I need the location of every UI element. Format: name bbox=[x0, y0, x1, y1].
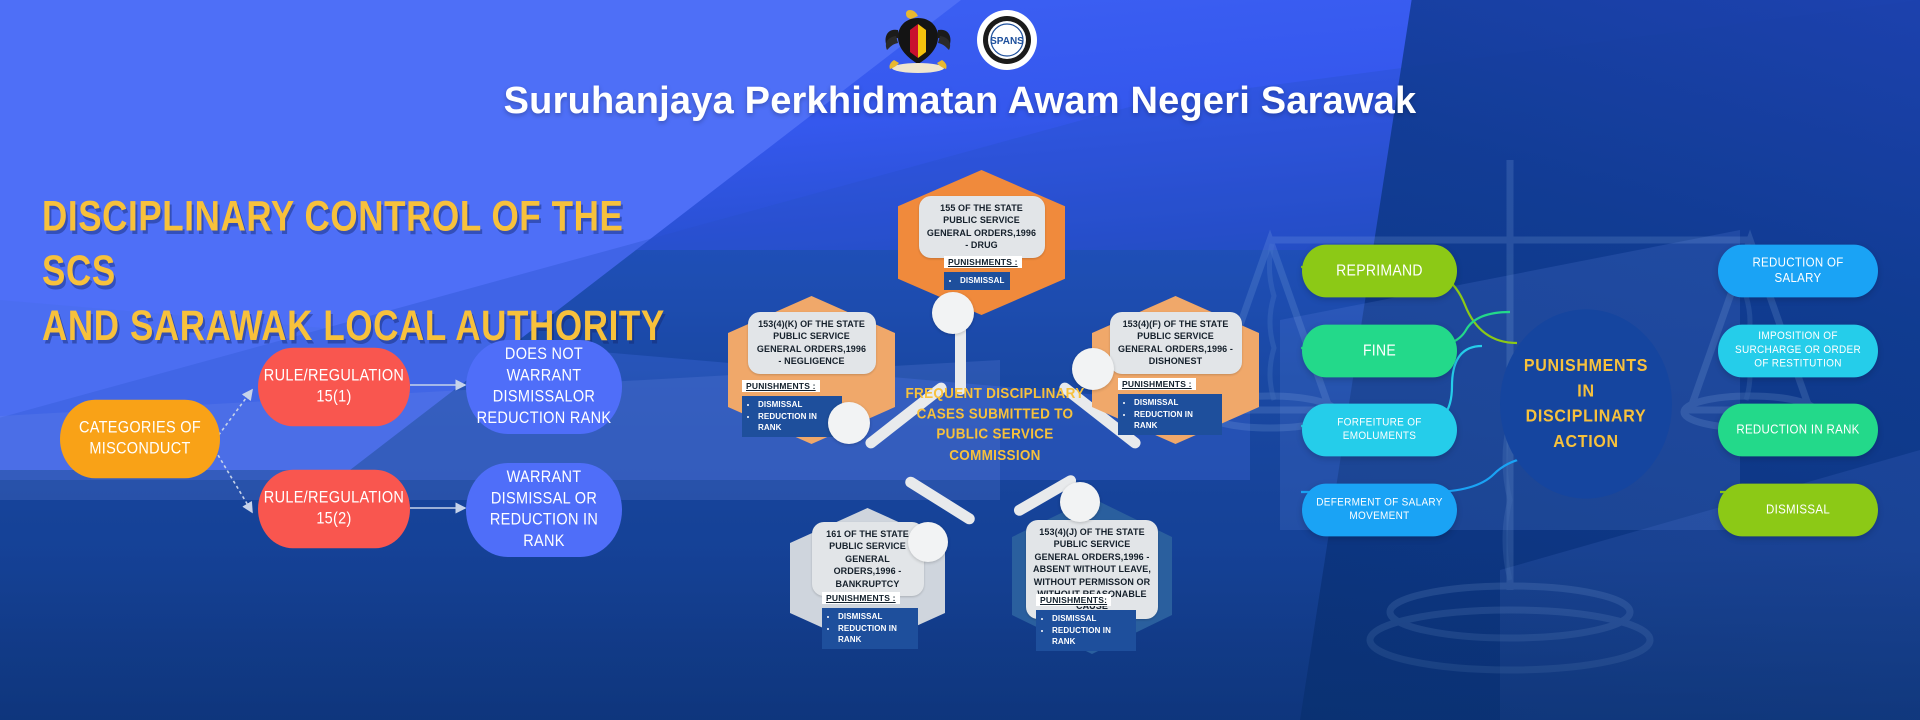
pill-label: REPRIMAND bbox=[1336, 261, 1423, 280]
hex-title: 153(4)(K) OF THE STATE PUBLIC SERVICE GE… bbox=[748, 312, 876, 374]
punishments-heading: PUNISHMENTS : bbox=[742, 380, 820, 392]
punishments-list: DISMISSAL REDUCTION IN RANK bbox=[1118, 394, 1222, 435]
hub-line-4: ACTION bbox=[1524, 430, 1648, 456]
header-logos: SPANS bbox=[0, 6, 1920, 74]
node-outcome-15-1[interactable]: DOES NOT WARRANT DISMISSALOR REDUCTION R… bbox=[466, 340, 622, 434]
headline-line-1: DISCIPLINARY CONTROL OF THE SCS bbox=[42, 190, 702, 299]
punishments-list: DISMISSAL bbox=[944, 272, 1010, 290]
pill-reprimand[interactable]: REPRIMAND bbox=[1302, 245, 1457, 298]
pill-label: FORFEITURE OF EMOLUMENTS bbox=[1312, 416, 1447, 444]
hex-title: 161 OF THE STATE PUBLIC SERVICE GENERAL … bbox=[812, 522, 924, 596]
punishment-item: DISMISSAL bbox=[1052, 613, 1129, 625]
pill-label: DEFERMENT OF SALARY MOVEMENT bbox=[1312, 496, 1447, 524]
node-label: CATEGORIES OF MISCONDUCT bbox=[70, 418, 210, 461]
hex-node-drug[interactable]: 155 OF THE STATE PUBLIC SERVICE GENERAL … bbox=[898, 170, 1065, 315]
node-label: RULE/REGULATION 15(2) bbox=[264, 488, 404, 531]
punishment-item: REDUCTION IN RANK bbox=[838, 623, 911, 646]
hex-bubble-negligence bbox=[828, 402, 870, 444]
hex-bubble-drug bbox=[932, 292, 974, 334]
node-categories-of-misconduct[interactable]: CATEGORIES OF MISCONDUCT bbox=[60, 400, 220, 478]
hex-node-absent[interactable]: 153(4)(J) OF THE STATE PUBLIC SERVICE GE… bbox=[1012, 498, 1172, 654]
punishments-list: DISMISSAL REDUCTION IN RANK bbox=[822, 608, 918, 649]
punishment-item: DISMISSAL bbox=[838, 611, 911, 623]
spans-logo-text: SPANS bbox=[990, 36, 1024, 47]
punishments-hub[interactable]: PUNISHMENTS IN DISCIPLINARY ACTION bbox=[1500, 309, 1672, 498]
punishment-item: DISMISSAL bbox=[1134, 397, 1215, 409]
pill-imposition-of-surcharge[interactable]: IMPOSITION OF SURCHARGE OR ORDER OF REST… bbox=[1718, 325, 1878, 378]
punishment-item: REDUCTION IN RANK bbox=[1134, 409, 1215, 432]
punishments-heading: PUNISHMENTS : bbox=[944, 256, 1022, 268]
hex-bubble-absent bbox=[1060, 482, 1100, 522]
punishments-heading: PUNISHMENTS : bbox=[1118, 378, 1196, 390]
node-rule-15-2[interactable]: RULE/REGULATION 15(2) bbox=[258, 470, 410, 548]
headline: DISCIPLINARY CONTROL OF THE SCS AND SARA… bbox=[42, 190, 702, 354]
pill-dismissal[interactable]: DISMISSAL bbox=[1718, 484, 1878, 537]
pill-deferment-of-salary-movement[interactable]: DEFERMENT OF SALARY MOVEMENT bbox=[1302, 484, 1457, 537]
hex-title: 153(4)(F) OF THE STATE PUBLIC SERVICE GE… bbox=[1110, 312, 1242, 374]
pill-label: REDUCTION IN RANK bbox=[1736, 422, 1859, 438]
punishments-list: DISMISSAL REDUCTION IN RANK bbox=[742, 396, 842, 437]
hub-line-3: DISCIPLINARY bbox=[1524, 404, 1648, 430]
pill-label: IMPOSITION OF SURCHARGE OR ORDER OF REST… bbox=[1728, 330, 1868, 371]
background-bottom-haze bbox=[0, 550, 1920, 720]
hex-bubble-bankruptcy bbox=[908, 522, 948, 562]
hub-line-2: IN bbox=[1524, 378, 1648, 404]
hex-cluster-center-label: FREQUENT DISCIPLINARY CASES SUBMITTED TO… bbox=[900, 384, 1090, 466]
node-label: DOES NOT WARRANT DISMISSALOR REDUCTION R… bbox=[476, 344, 612, 430]
punishments-list: DISMISSAL REDUCTION IN RANK bbox=[1036, 610, 1136, 651]
hex-title: 155 OF THE STATE PUBLIC SERVICE GENERAL … bbox=[919, 196, 1045, 258]
hex-node-dishonest[interactable]: 153(4)(F) OF THE STATE PUBLIC SERVICE GE… bbox=[1092, 296, 1259, 444]
punishment-item: REDUCTION IN RANK bbox=[1052, 625, 1129, 648]
node-label: WARRANT DISMISSAL OR REDUCTION IN RANK bbox=[476, 467, 612, 553]
pill-reduction-in-rank[interactable]: REDUCTION IN RANK bbox=[1718, 404, 1878, 457]
node-outcome-15-2[interactable]: WARRANT DISMISSAL OR REDUCTION IN RANK bbox=[466, 463, 622, 557]
punishments-heading: PUNISHMENTS : bbox=[822, 592, 900, 604]
pill-label: REDUCTION OF SALARY bbox=[1728, 255, 1868, 287]
pill-reduction-of-salary[interactable]: REDUCTION OF SALARY bbox=[1718, 245, 1878, 298]
pill-fine[interactable]: FINE bbox=[1302, 325, 1457, 378]
punishment-item: DISMISSAL bbox=[960, 275, 1003, 287]
page-title: Suruhanjaya Perkhidmatan Awam Negeri Sar… bbox=[0, 80, 1920, 123]
hub-line-1: PUNISHMENTS bbox=[1524, 353, 1648, 379]
node-rule-15-1[interactable]: RULE/REGULATION 15(1) bbox=[258, 348, 410, 426]
punishment-item: REDUCTION IN RANK bbox=[758, 411, 835, 434]
spans-logo-icon: SPANS bbox=[976, 9, 1038, 71]
infographic-canvas: SPANS Suruhanjaya Perkhidmatan Awam Nege… bbox=[0, 0, 1920, 720]
sarawak-coat-of-arms-icon bbox=[882, 6, 954, 74]
node-label: RULE/REGULATION 15(1) bbox=[264, 366, 404, 409]
pill-label: FINE bbox=[1363, 341, 1396, 360]
punishments-heading: PUNISHMENTS: bbox=[1036, 594, 1111, 606]
punishment-item: DISMISSAL bbox=[758, 399, 835, 411]
pill-label: DISMISSAL bbox=[1766, 502, 1830, 518]
pill-forfeiture-of-emoluments[interactable]: FORFEITURE OF EMOLUMENTS bbox=[1302, 404, 1457, 457]
